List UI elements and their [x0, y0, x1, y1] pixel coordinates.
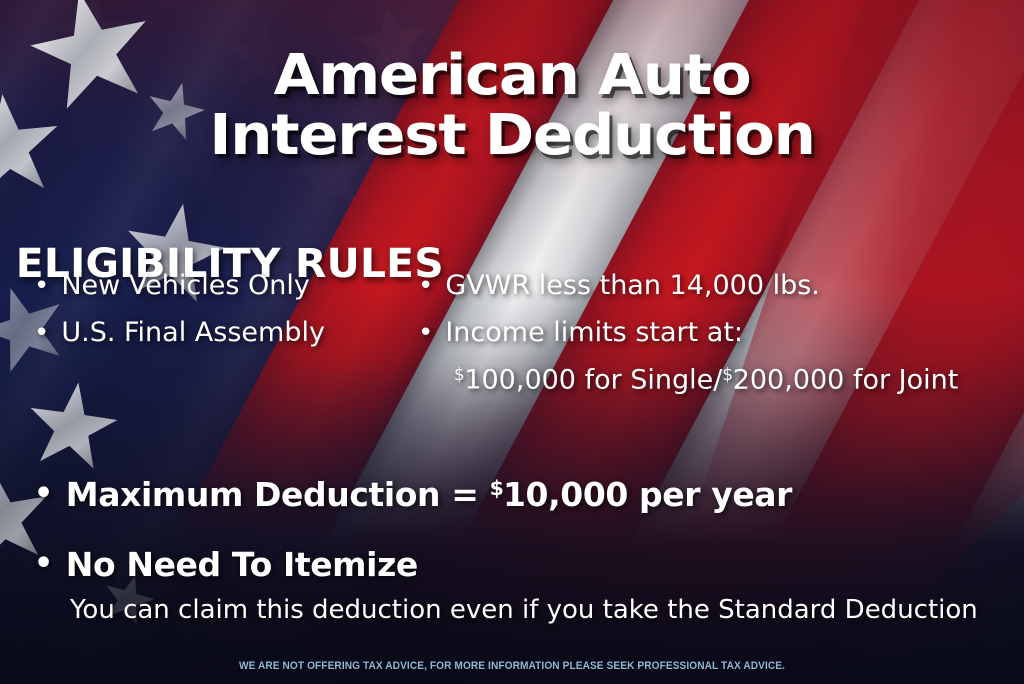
bullet-icon: •: [34, 549, 53, 579]
title-line-2: Interest Deduction: [0, 106, 1024, 166]
max-deduction-suffix: per year: [628, 475, 792, 514]
infographic-poster: American Auto Interest Deduction ELIGIBI…: [0, 0, 1024, 684]
bullet-icon: •: [34, 320, 49, 346]
bullet-icon: •: [418, 320, 433, 346]
no-itemize-note: You can claim this deduction even if you…: [70, 597, 978, 623]
income-limit-detail: $100,000 for Single/$200,000 for Joint: [454, 366, 1018, 394]
bullet-icon: •: [418, 273, 433, 299]
list-item: • New Vehicles Only: [34, 272, 414, 299]
list-item: • GVWR less than 14,000 lbs.: [418, 272, 1018, 299]
max-deduction-text: Maximum Deduction = $10,000 per year: [66, 478, 1010, 511]
list-item-label: GVWR less than 14,000 lbs.: [445, 272, 1018, 299]
disclaimer-text: WE ARE NOT OFFERING TAX ADVICE, FOR MORE…: [41, 660, 983, 672]
income-single-label: for Single/: [576, 365, 722, 396]
list-item-label: U.S. Final Assembly: [61, 319, 414, 346]
bullet-icon: •: [34, 273, 49, 299]
no-itemize-headline: No Need To Itemize: [66, 548, 1010, 581]
max-deduction-prefix: Maximum Deduction =: [66, 475, 490, 514]
list-item-label: Income limits start at:: [445, 319, 1018, 346]
bullet-icon: •: [34, 479, 53, 509]
list-item: • Income limits start at:: [418, 319, 1018, 346]
eligibility-right-column: • GVWR less than 14,000 lbs. • Income li…: [418, 272, 1018, 394]
spacer: [34, 511, 1010, 548]
title-line-1: American Auto: [0, 46, 1024, 106]
eligibility-left-column: • New Vehicles Only • U.S. Final Assembl…: [34, 272, 414, 366]
income-single-amount: 100,000: [464, 365, 576, 396]
no-itemize-row: • No Need To Itemize: [34, 548, 1010, 581]
max-deduction-amount: 10,000: [503, 475, 628, 514]
list-item: • U.S. Final Assembly: [34, 319, 414, 346]
income-joint-amount: 200,000: [733, 365, 845, 396]
list-item-label: New Vehicles Only: [61, 272, 414, 299]
major-points: • Maximum Deduction = $10,000 per year •…: [34, 478, 1010, 581]
poster-content: American Auto Interest Deduction ELIGIBI…: [0, 0, 1024, 684]
dollar-sign-joint: $: [722, 364, 733, 384]
max-deduction-row: • Maximum Deduction = $10,000 per year: [34, 478, 1010, 511]
dollar-sign-max: $: [490, 476, 504, 500]
income-joint-label: for Joint: [844, 365, 958, 396]
page-title: American Auto Interest Deduction: [0, 46, 1024, 167]
